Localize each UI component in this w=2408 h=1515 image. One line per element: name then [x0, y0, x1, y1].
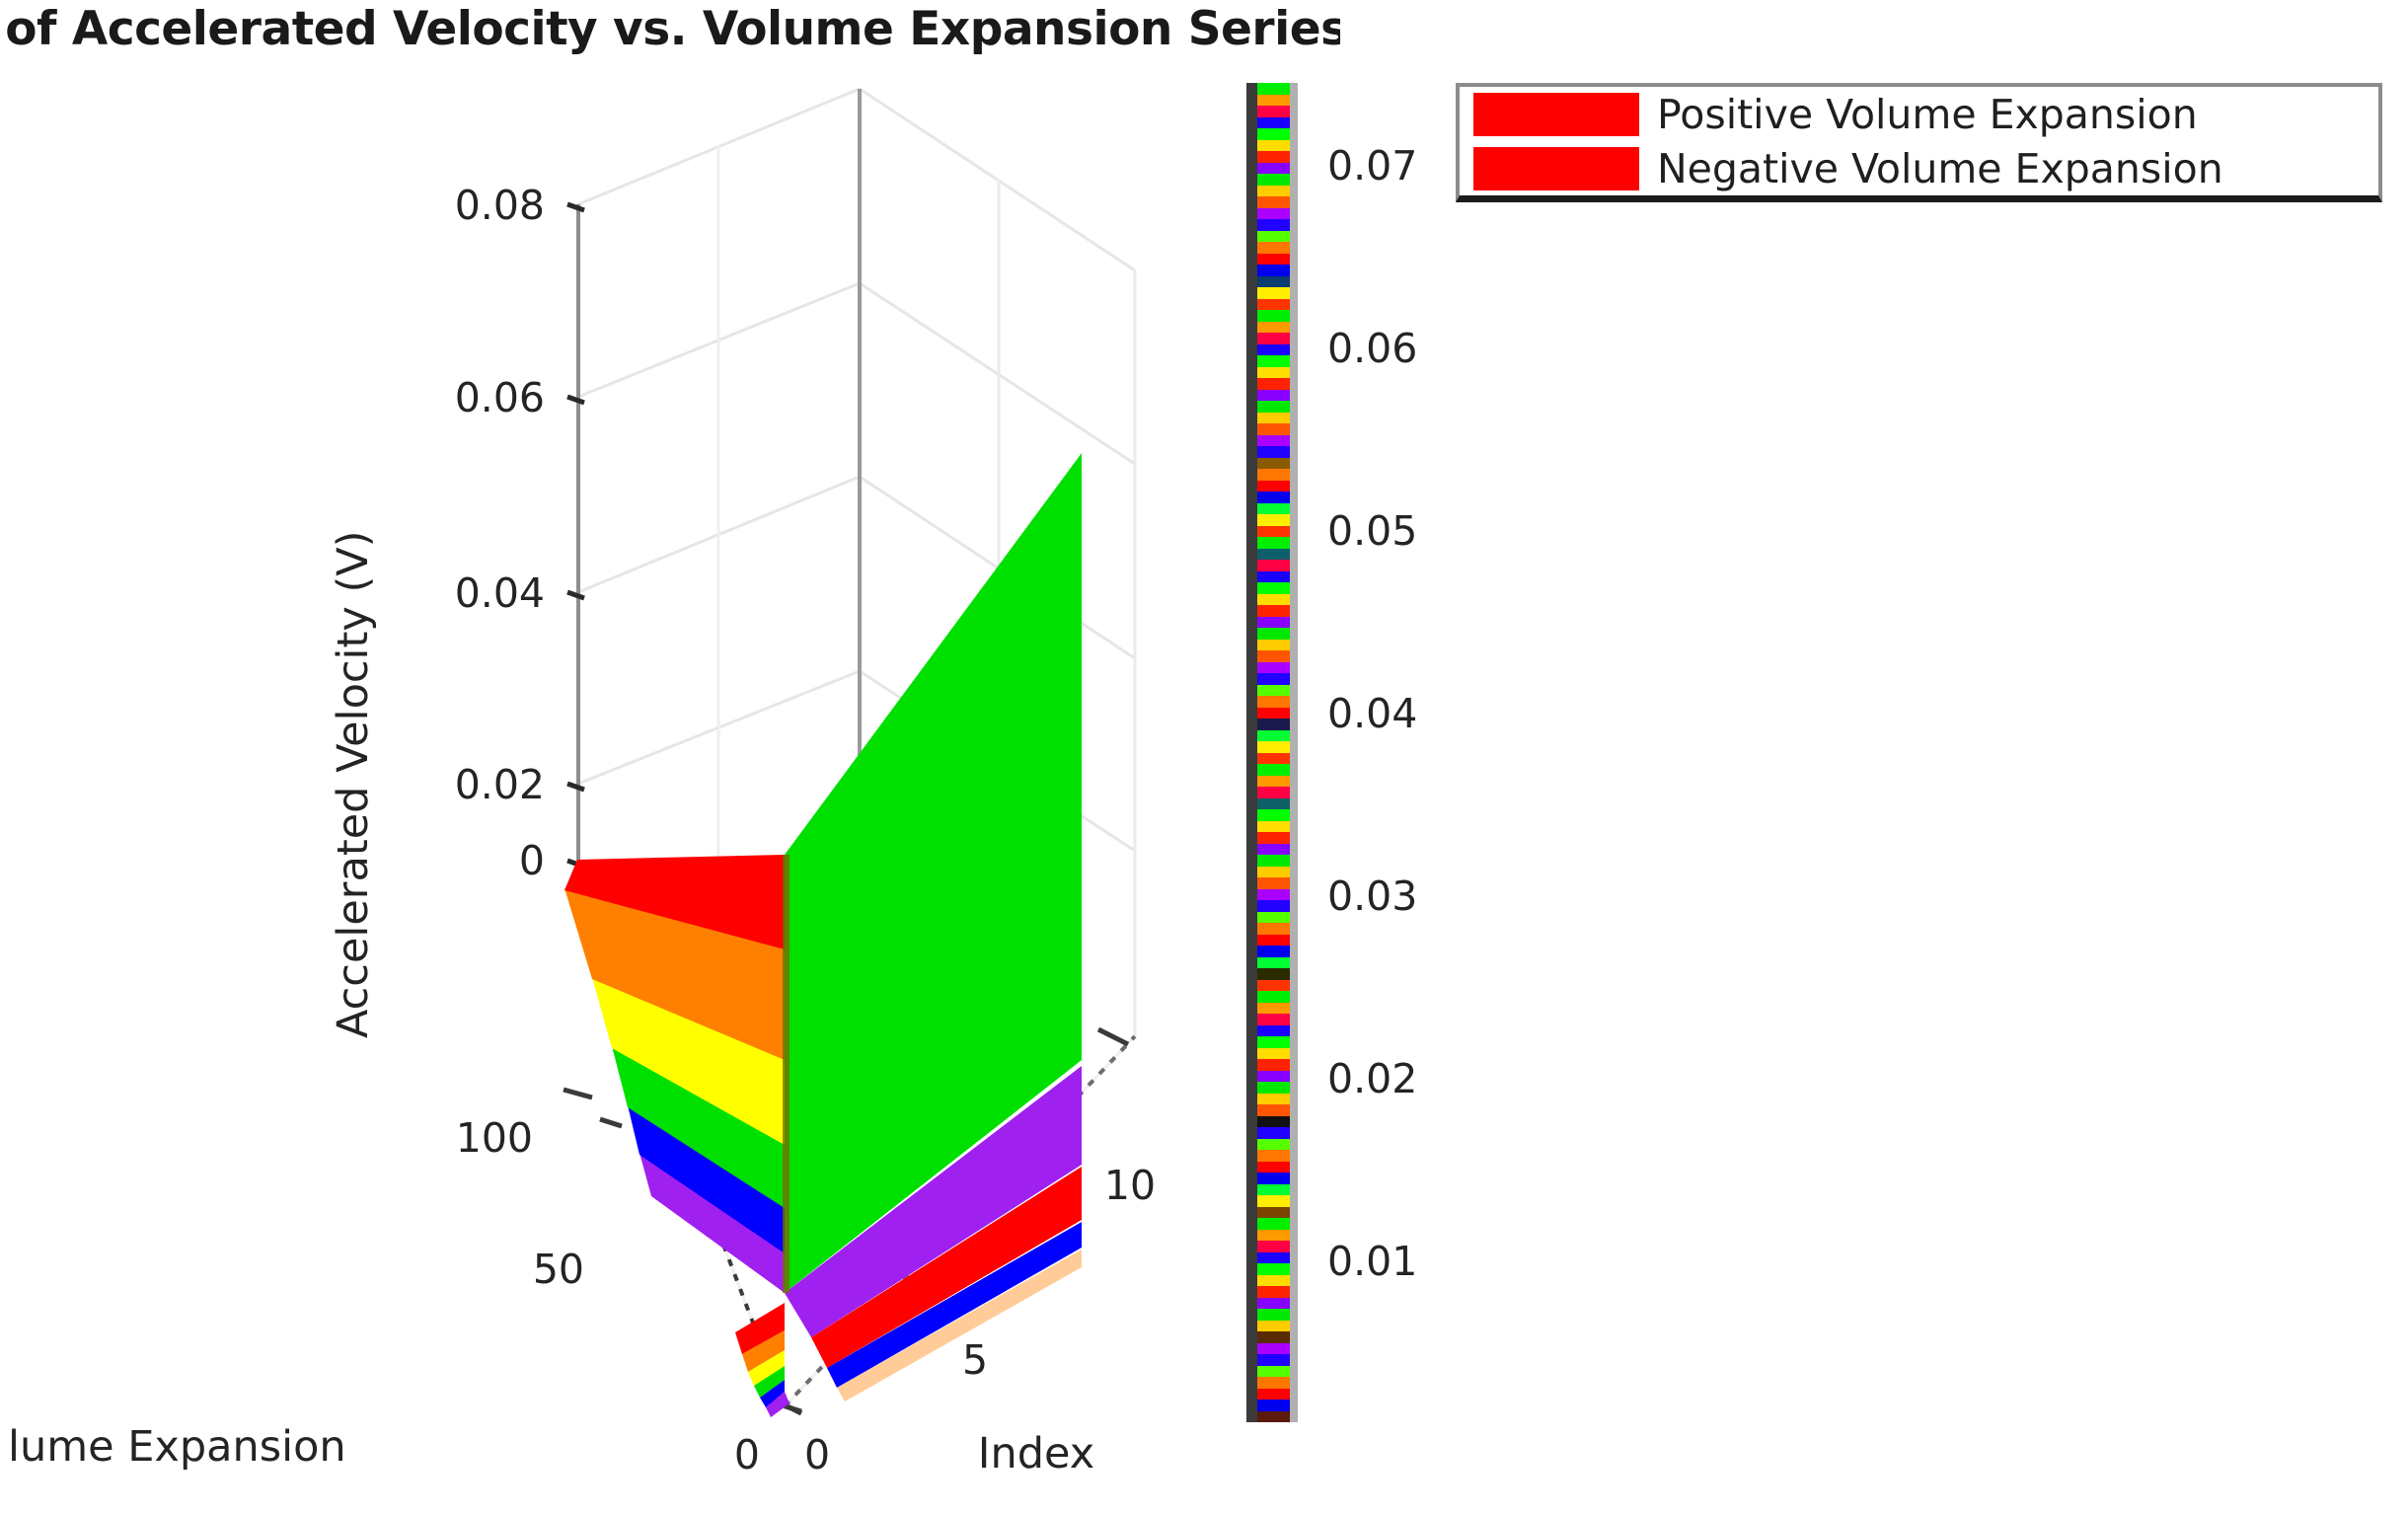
colorbar-stripe [1257, 1173, 1290, 1184]
colorbar-stripe [1257, 640, 1290, 651]
colorbar-stripe [1257, 423, 1290, 435]
colorbar-stripe [1257, 549, 1290, 561]
colorbar-stripe [1257, 571, 1290, 583]
colorbar-stripe [1257, 787, 1290, 798]
colorbar-stripe [1257, 560, 1290, 571]
colorbar-stripe [1257, 287, 1290, 299]
colorbar-stripe [1257, 514, 1290, 526]
colorbar-tick-label: 0.04 [1327, 690, 1417, 737]
x-tick-label: 5 [962, 1336, 988, 1384]
colorbar-stripe [1257, 151, 1290, 163]
colorbar-stripe [1257, 855, 1290, 867]
x-axis-title: Index [978, 1429, 1094, 1478]
colorbar-stripe [1257, 1298, 1290, 1310]
colorbar-stripe [1257, 1094, 1290, 1105]
colorbar-stripe [1257, 1354, 1290, 1366]
colorbar-gradient-strip [1257, 83, 1290, 1422]
legend-swatch-positive [1473, 93, 1639, 136]
colorbar-stripe [1257, 877, 1290, 889]
colorbar-stripe [1257, 83, 1290, 95]
colorbar-stripe [1257, 741, 1290, 753]
colorbar-stripe [1257, 492, 1290, 503]
colorbar-stripe [1257, 219, 1290, 231]
colorbar-stripe [1257, 650, 1290, 662]
colorbar-stripe [1257, 1184, 1290, 1196]
colorbar-stripe [1257, 1389, 1290, 1401]
colorbar-stripe [1257, 128, 1290, 140]
colorbar-stripe [1257, 912, 1290, 924]
legend-swatch-negative [1473, 147, 1639, 190]
z-axis-title: Accelerated Velocity (V) [329, 531, 378, 1038]
legend[interactable]: Positive Volume Expansion Negative Volum… [1456, 83, 2382, 202]
colorbar-stripe [1257, 764, 1290, 776]
colorbar-stripe [1257, 1104, 1290, 1116]
colorbar-stripe [1257, 1082, 1290, 1094]
colorbar-stripe [1257, 753, 1290, 765]
colorbar-stripe [1257, 469, 1290, 481]
colorbar-stripe [1257, 1411, 1290, 1423]
colorbar-stripe [1257, 730, 1290, 742]
colorbar-stripe [1257, 582, 1290, 594]
y-tick-label: 50 [533, 1246, 584, 1293]
y-tick-label: 0 [734, 1431, 760, 1478]
colorbar-stripe [1257, 1241, 1290, 1252]
y-tick-label: 100 [456, 1114, 533, 1162]
colorbar-stripe [1257, 867, 1290, 878]
colorbar-stripe [1257, 719, 1290, 730]
colorbar-stripe [1257, 605, 1290, 617]
colorbar-stripe [1257, 1275, 1290, 1287]
colorbar-stripe [1257, 1025, 1290, 1037]
colorbar-stripe [1257, 821, 1290, 833]
colorbar-stripe [1257, 299, 1290, 311]
colorbar-stripe [1257, 628, 1290, 640]
colorbar-stripe [1257, 1071, 1290, 1083]
colorbar-stripe [1257, 1366, 1290, 1378]
colorbar-stripe [1257, 1048, 1290, 1060]
colorbar-stripe [1257, 378, 1290, 390]
z-tick-label: 0.04 [455, 569, 545, 617]
colorbar-stripe [1257, 662, 1290, 674]
colorbar-stripe [1257, 231, 1290, 243]
colorbar-tick-label: 0.07 [1327, 142, 1417, 189]
colorbar-stripe [1257, 265, 1290, 276]
colorbar-stripe [1257, 390, 1290, 402]
z-axis-ticks [567, 204, 584, 867]
colorbar-tick-label: 0.02 [1327, 1055, 1417, 1102]
colorbar-stripe [1257, 617, 1290, 629]
z-tick-label: 0.02 [455, 761, 545, 808]
colorbar-stripe [1257, 1331, 1290, 1343]
surface-ribbons [564, 453, 1082, 1417]
colorbar-stripe [1257, 708, 1290, 720]
z-tick-labels: 0.08 0.06 0.04 0.02 0 [455, 182, 545, 884]
colorbar-stripe [1257, 1230, 1290, 1242]
figure-window: e of Accelerated Velocity vs. Volume Exp… [0, 0, 2408, 1515]
colorbar-stripe [1257, 367, 1290, 379]
colorbar-stripe [1257, 696, 1290, 708]
colorbar-tick-label: 0.03 [1327, 872, 1417, 920]
colorbar-stripe [1257, 1263, 1290, 1275]
colorbar-stripe [1257, 254, 1290, 265]
colorbar-stripe [1257, 776, 1290, 788]
colorbar-stripe [1257, 673, 1290, 685]
colorbar-stripe [1257, 310, 1290, 322]
colorbar-stripe [1257, 106, 1290, 117]
colorbar-stripe [1257, 1036, 1290, 1048]
colorbar-stripe [1257, 968, 1290, 980]
colorbar-stripe [1257, 242, 1290, 254]
colorbar-stripe [1257, 685, 1290, 697]
plot-canvas: 0.08 0.06 0.04 0.02 0 Accelerated Veloci… [0, 0, 2408, 1515]
colorbar-tick-label: 0.06 [1327, 325, 1417, 372]
colorbar-stripe [1257, 481, 1290, 492]
colorbar-left-edge [1246, 83, 1257, 1422]
colorbar-tick-labels: 0.07 0.06 0.05 0.04 0.03 0.02 0.01 [1327, 142, 1417, 1285]
legend-item-negative[interactable]: Negative Volume Expansion [1460, 141, 2378, 195]
y-axis-title: lume Expansion [8, 1422, 346, 1472]
colorbar-tick-label: 0.01 [1327, 1238, 1417, 1285]
colorbar-stripe [1257, 503, 1290, 515]
colorbar-stripe [1257, 935, 1290, 947]
colorbar-stripe [1257, 276, 1290, 288]
colorbar-stripe [1257, 1377, 1290, 1389]
colorbar-stripe [1257, 1400, 1290, 1411]
x-tick-label: 10 [1104, 1162, 1156, 1209]
colorbar-stripe [1257, 140, 1290, 152]
colorbar-stripe [1257, 1195, 1290, 1207]
colorbar-stripe [1257, 526, 1290, 538]
colorbar-stripe [1257, 1162, 1290, 1174]
colorbar[interactable] [1246, 83, 1298, 1422]
colorbar-stripe [1257, 322, 1290, 334]
colorbar-stripe [1257, 446, 1290, 458]
z-tick-label: 0 [519, 837, 545, 884]
legend-label-positive: Positive Volume Expansion [1657, 91, 2198, 138]
colorbar-stripe [1257, 208, 1290, 220]
colorbar-stripe [1257, 355, 1290, 367]
colorbar-stripe [1257, 344, 1290, 356]
colorbar-stripe [1257, 809, 1290, 821]
legend-item-positive[interactable]: Positive Volume Expansion [1460, 87, 2378, 141]
colorbar-stripe [1257, 413, 1290, 424]
z-tick-label: 0.06 [455, 374, 545, 421]
ribbon-seam [783, 855, 790, 1293]
colorbar-tick-label: 0.05 [1327, 507, 1417, 555]
colorbar-stripe [1257, 1309, 1290, 1321]
colorbar-stripe [1257, 333, 1290, 344]
colorbar-stripe [1257, 1003, 1290, 1015]
colorbar-stripe [1257, 1116, 1290, 1128]
colorbar-stripe [1257, 186, 1290, 197]
colorbar-stripe [1257, 196, 1290, 208]
colorbar-stripe [1257, 1343, 1290, 1355]
colorbar-stripe [1257, 900, 1290, 912]
colorbar-stripe [1257, 1139, 1290, 1151]
colorbar-stripe [1257, 844, 1290, 856]
z-tick-label: 0.08 [455, 182, 545, 229]
colorbar-stripe [1257, 1252, 1290, 1264]
colorbar-stripe [1257, 957, 1290, 969]
colorbar-stripe [1257, 1059, 1290, 1071]
colorbar-stripe [1257, 95, 1290, 107]
colorbar-stripe [1257, 537, 1290, 549]
colorbar-stripe [1257, 1150, 1290, 1162]
colorbar-stripe [1257, 401, 1290, 413]
colorbar-stripe [1257, 832, 1290, 844]
legend-label-negative: Negative Volume Expansion [1657, 145, 2223, 192]
colorbar-stripe [1257, 594, 1290, 606]
colorbar-right-edge [1290, 83, 1298, 1422]
colorbar-stripe [1257, 435, 1290, 447]
colorbar-stripe [1257, 1321, 1290, 1332]
x-tick-label: 0 [804, 1431, 830, 1478]
colorbar-stripe [1257, 1014, 1290, 1025]
colorbar-stripe [1257, 163, 1290, 175]
colorbar-stripe [1257, 1218, 1290, 1230]
colorbar-stripe [1257, 889, 1290, 901]
colorbar-stripe [1257, 798, 1290, 810]
colorbar-stripe [1257, 923, 1290, 935]
colorbar-stripe [1257, 1127, 1290, 1139]
colorbar-stripe [1257, 1286, 1290, 1298]
colorbar-stripe [1257, 458, 1290, 470]
colorbar-stripe [1257, 980, 1290, 992]
colorbar-stripe [1257, 946, 1290, 957]
colorbar-stripe [1257, 117, 1290, 129]
colorbar-stripe [1257, 174, 1290, 186]
colorbar-stripe [1257, 1207, 1290, 1219]
colorbar-stripe [1257, 991, 1290, 1003]
